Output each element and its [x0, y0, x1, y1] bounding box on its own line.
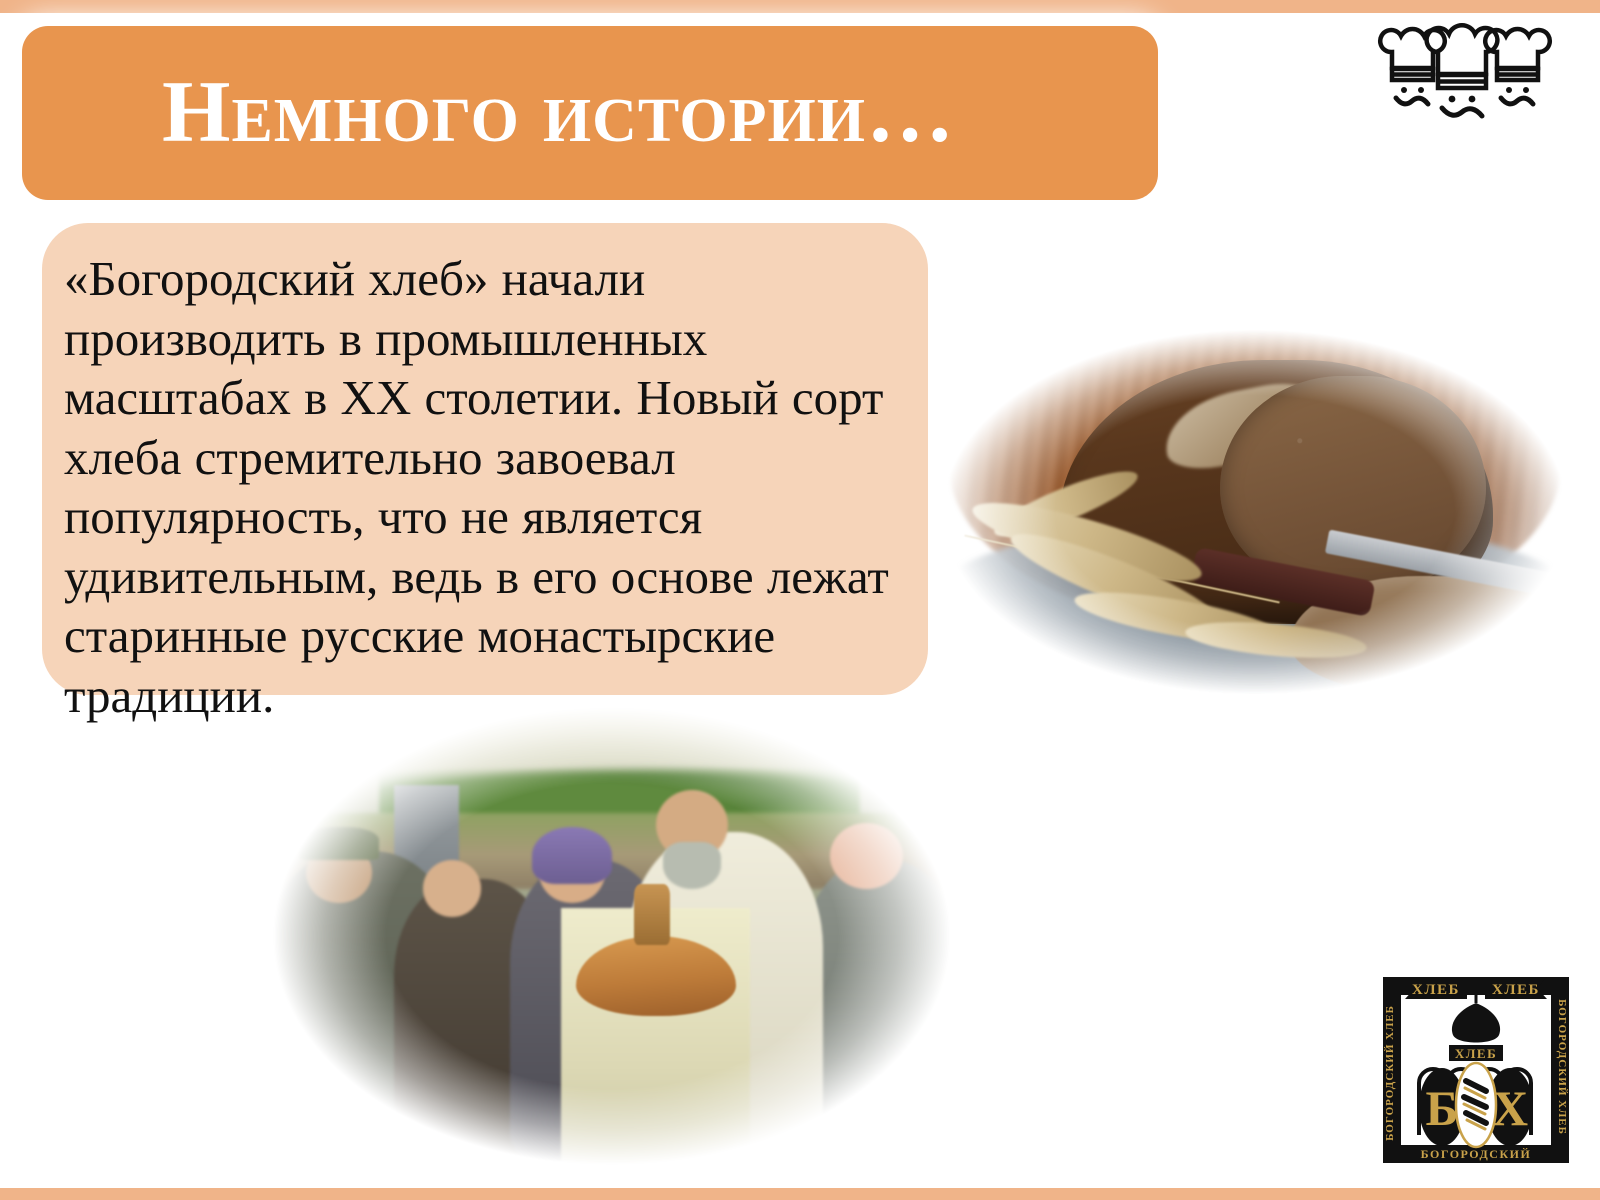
bogorodsky-hleb-logo: ХЛЕБ ХЛЕБ БОГОРОДСКИЙ ХЛЕБ БОГОРОДСКИЙ Х…	[1371, 955, 1581, 1167]
painting-head	[423, 860, 481, 917]
painting-beard	[663, 842, 721, 889]
painting-salt-cellar	[634, 884, 670, 945]
body-paragraph: «Богородский хлеб» начали производить в …	[64, 249, 900, 725]
chef-hats-icon	[1376, 22, 1556, 132]
logo-letter-h: Х	[1492, 1080, 1528, 1136]
logo-border-bottom-text: БОГОРОДСКИЙ	[1421, 1147, 1532, 1161]
logo-letter-b: Б	[1425, 1080, 1458, 1136]
painting-vignette	[248, 700, 976, 1172]
rye-bread-photo	[905, 312, 1600, 712]
painting-kerchief	[532, 827, 612, 884]
title-banner: Немного истории…	[22, 26, 1158, 200]
painting-figure	[801, 860, 961, 1162]
top-accent-strip	[0, 0, 1600, 13]
painting-head	[830, 823, 903, 889]
painting-cap	[299, 827, 379, 860]
bread-photo-vignette	[905, 312, 1600, 712]
body-text-bubble: «Богородский хлеб» начали производить в …	[42, 223, 928, 695]
logo-border-right-text: БОГОРОДСКИЙ ХЛЕБ	[1556, 999, 1568, 1135]
page-title: Немного истории…	[162, 69, 955, 157]
logo-top-left-label: ХЛЕБ	[1412, 982, 1460, 998]
logo-top-right-label: ХЛЕБ	[1492, 982, 1540, 998]
logo-border-left-text: БОГОРОДСКИЙ ХЛЕБ	[1384, 1005, 1396, 1141]
logo-dome-label: ХЛЕБ	[1455, 1046, 1497, 1061]
bottom-accent-strip	[0, 1188, 1600, 1200]
bread-and-salt-painting	[248, 700, 976, 1172]
